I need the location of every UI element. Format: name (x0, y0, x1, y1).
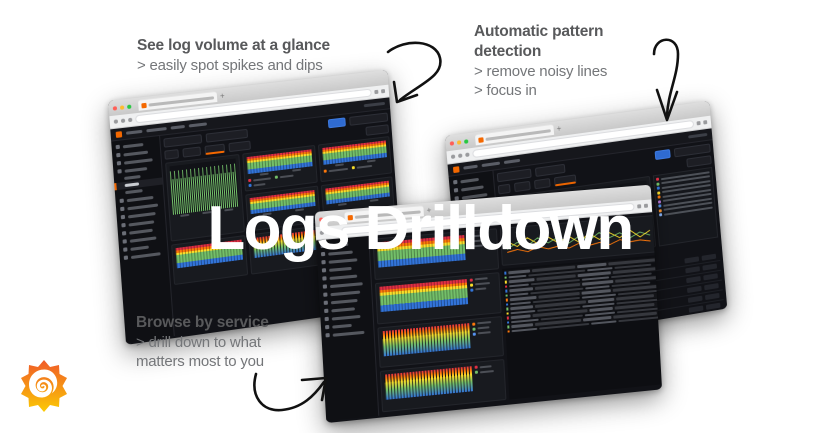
run-query-button[interactable] (655, 149, 671, 160)
minimize-icon[interactable] (120, 105, 124, 110)
service-select[interactable] (163, 134, 202, 148)
tab-labels[interactable] (182, 146, 201, 157)
tab-patterns[interactable] (554, 174, 577, 186)
reload-icon[interactable] (465, 152, 469, 157)
profile-icon[interactable] (703, 120, 707, 124)
curved-arrow-down-left-icon (384, 34, 448, 110)
tab-patterns[interactable] (228, 141, 250, 153)
time-range-picker[interactable] (349, 112, 388, 125)
bookmark-icon[interactable] (374, 90, 378, 94)
minimize-icon[interactable] (457, 140, 461, 145)
annotation-pattern-line-1: > remove noisy lines (474, 62, 644, 82)
new-tab-icon[interactable]: + (556, 124, 565, 133)
label-select[interactable] (535, 164, 566, 177)
tab-logs[interactable] (498, 184, 511, 195)
topbar-action[interactable] (688, 133, 707, 139)
grafana-icon[interactable] (453, 166, 460, 173)
panel-service-b[interactable] (318, 136, 392, 182)
log-lines-panel[interactable] (502, 255, 662, 400)
breadcrumb[interactable] (171, 125, 185, 130)
close-icon[interactable] (113, 106, 117, 111)
topbar-action[interactable] (364, 102, 385, 107)
grafana-icon[interactable] (116, 131, 123, 138)
breadcrumb[interactable] (126, 130, 143, 135)
breadcrumb[interactable] (482, 162, 500, 168)
back-icon[interactable] (114, 119, 118, 124)
annotation-browse-heading: Browse by service (136, 313, 269, 333)
close-icon[interactable] (450, 141, 454, 146)
annotation-volume-heading: See log volume at a glance (137, 36, 330, 56)
tab-fields[interactable] (534, 178, 551, 189)
maximize-icon[interactable] (127, 104, 131, 109)
back-icon[interactable] (451, 154, 455, 159)
breadcrumb[interactable] (463, 165, 478, 170)
favicon-icon (478, 137, 484, 143)
open-in-explore-button[interactable] (686, 155, 711, 167)
run-query-button[interactable] (328, 117, 346, 128)
promo-banner: + (0, 0, 840, 433)
tab-labels[interactable] (514, 181, 531, 192)
service-card[interactable] (375, 272, 502, 324)
annotation-volume-line-1: > easily spot spikes and dips (137, 56, 330, 76)
breadcrumb[interactable] (504, 159, 520, 164)
page-title: Logs Drilldown (0, 198, 840, 260)
forward-icon[interactable] (121, 119, 125, 124)
forward-icon[interactable] (458, 153, 462, 158)
annotation-browse: Browse by service > drill down to what m… (136, 313, 269, 372)
breadcrumb[interactable] (146, 127, 166, 132)
breadcrumb[interactable] (189, 122, 207, 127)
annotation-volume: See log volume at a glance > easily spot… (137, 36, 330, 75)
favicon-icon (141, 102, 146, 108)
tab-logs[interactable] (164, 149, 179, 160)
service-card[interactable] (380, 359, 507, 412)
annotation-browse-line-1: > drill down to what (136, 333, 269, 353)
annotation-pattern: Automatic pattern detection > remove noi… (474, 22, 644, 101)
grafana-logo-icon (18, 358, 70, 414)
open-in-explore-button[interactable] (365, 124, 389, 136)
new-tab-icon[interactable]: + (220, 91, 229, 100)
annotation-pattern-heading: Automatic pattern detection (474, 22, 644, 62)
panel-service-a[interactable] (242, 145, 318, 192)
bookmark-icon[interactable] (697, 121, 701, 125)
reload-icon[interactable] (128, 118, 132, 123)
maximize-icon[interactable] (464, 139, 468, 144)
annotation-pattern-line-2: > focus in (474, 81, 644, 101)
curved-arrow-up-right-icon (248, 368, 332, 420)
tab-fields[interactable] (204, 144, 225, 155)
hook-arrow-down-icon (646, 28, 690, 124)
